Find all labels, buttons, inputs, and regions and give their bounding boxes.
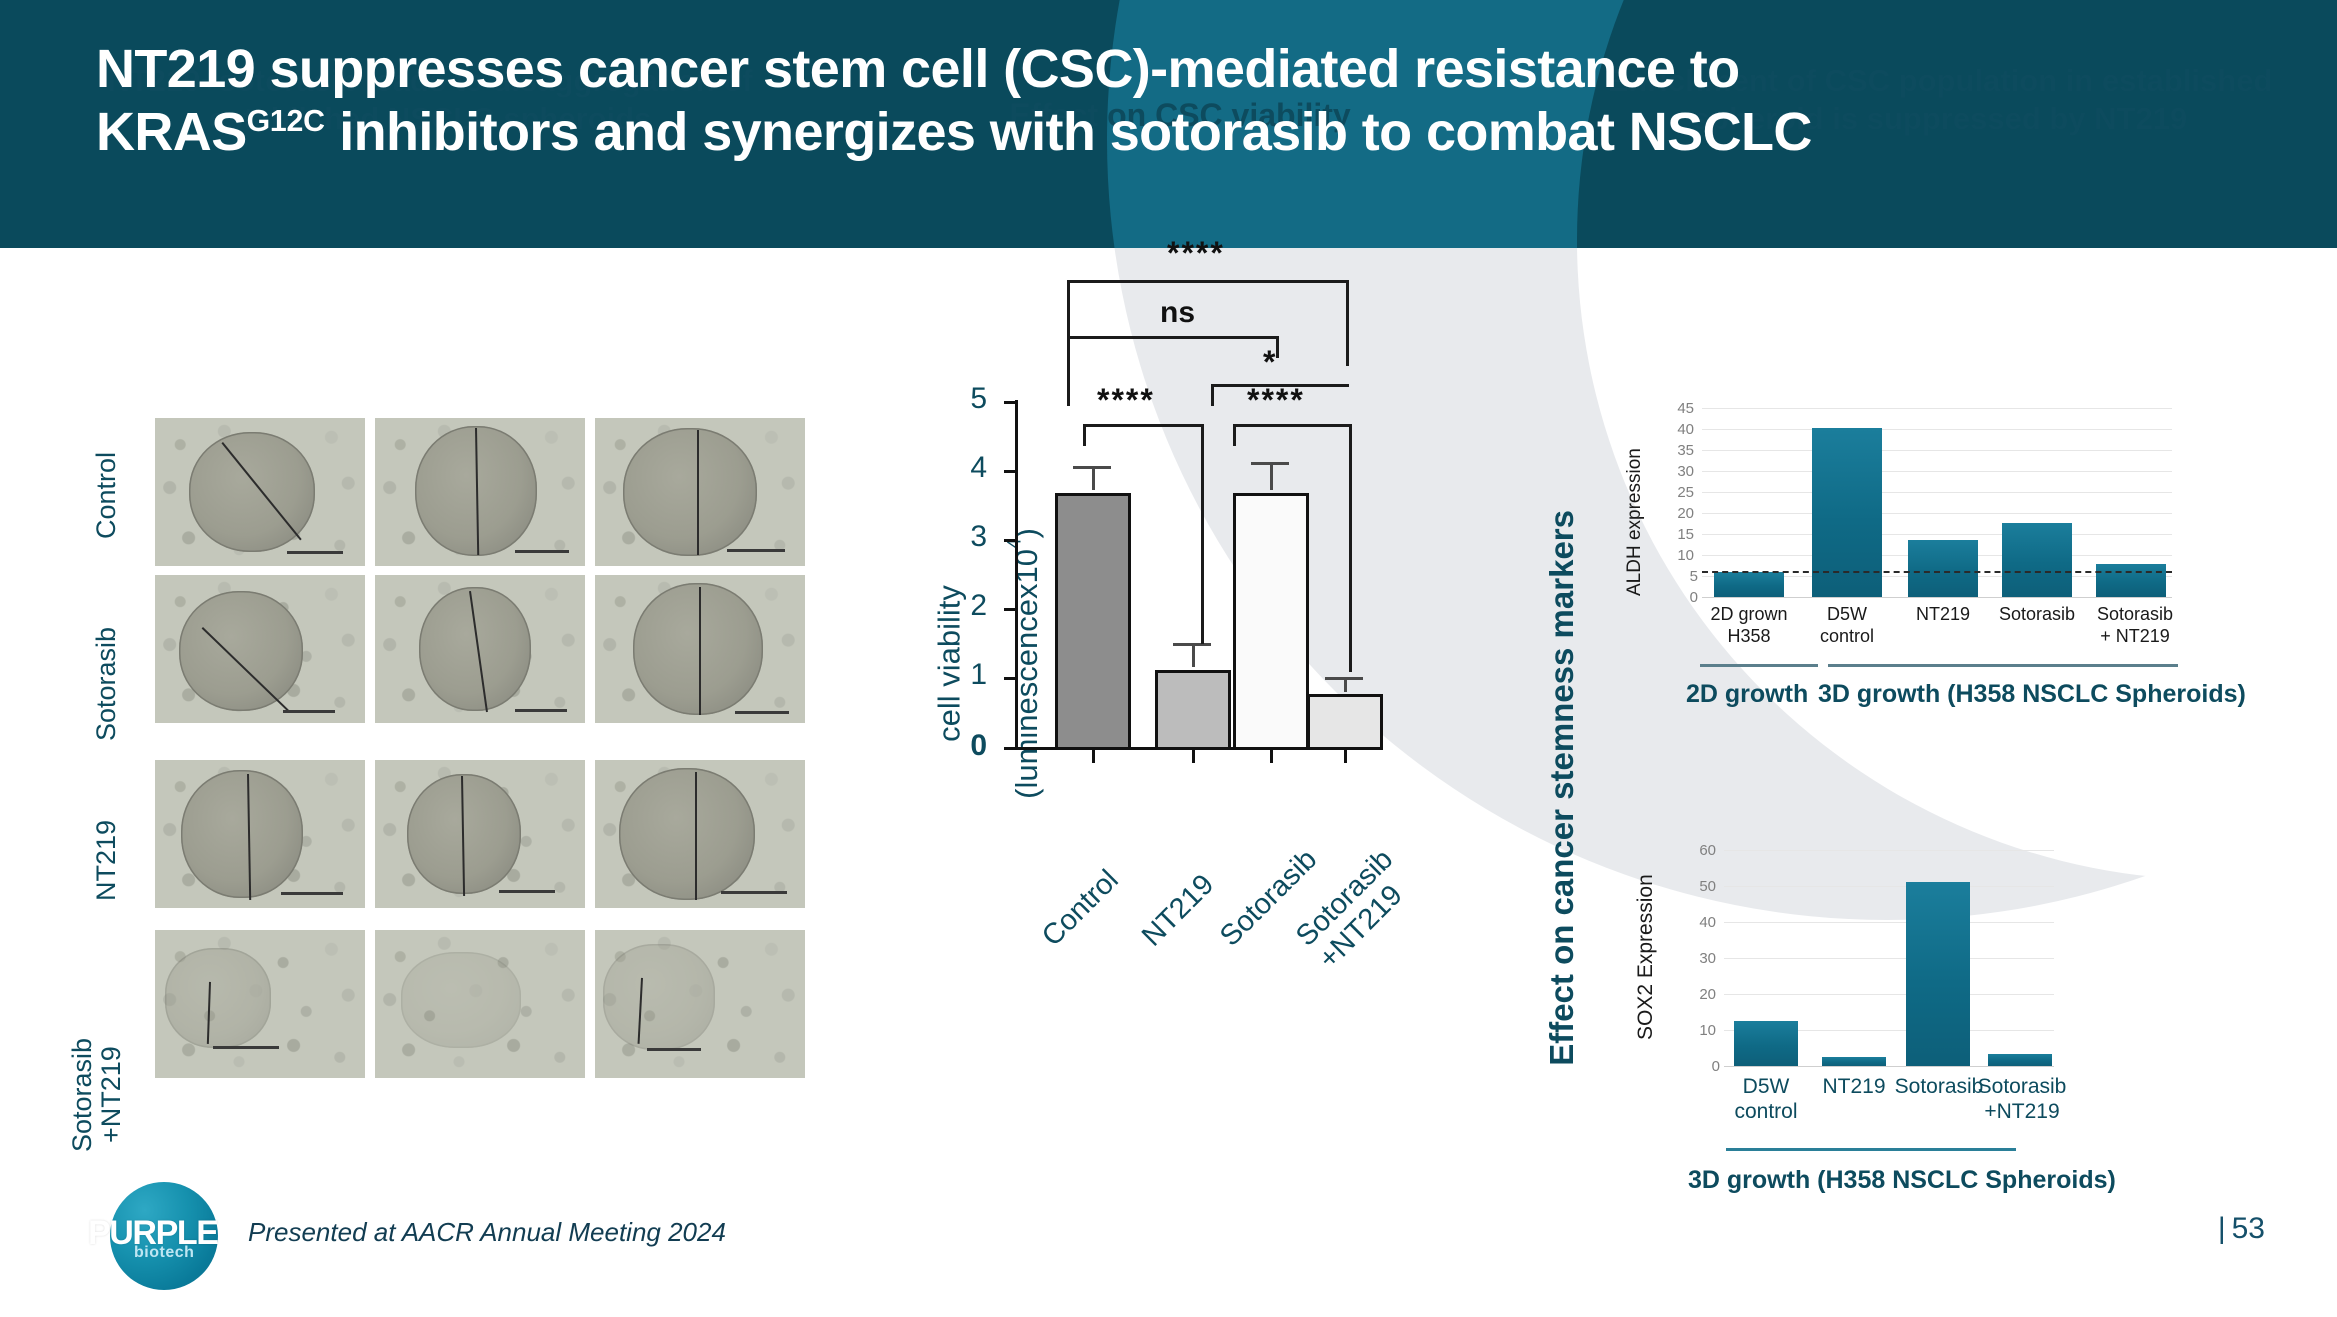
sox2-bar-nt219: [1822, 1057, 1886, 1066]
spheroid-image: [595, 575, 805, 723]
slide-root: NT219 suppresses cancer stem cell (CSC)-…: [0, 0, 2337, 1317]
spheroid-image: [375, 418, 585, 566]
sox2-ytick-40: 40: [1686, 914, 1716, 931]
aldh-group-label-2d: 2D growth: [1686, 680, 1808, 709]
aldh-ytick-30: 30: [1664, 463, 1694, 480]
csc-y-axis: [1015, 400, 1018, 750]
sox2-group-rule: [1726, 1148, 2016, 1151]
page-title: NT219 suppresses cancer stem cell (CSC)-…: [96, 38, 2096, 164]
significance-bracket: [1067, 280, 1349, 283]
sox2-xlabel-sotorasib-nt219: Sotorasib +NT219: [1970, 1074, 2074, 1124]
significance-label-4: ****: [1097, 382, 1155, 419]
sox2-ytick-10: 10: [1686, 1022, 1716, 1039]
csc-bar-control: [1055, 493, 1131, 750]
aldh-ytick-15: 15: [1664, 526, 1694, 543]
aldh-ytick-5: 5: [1668, 568, 1698, 585]
page-title-line1: NT219 suppresses cancer stem cell (CSC)-…: [96, 39, 1740, 99]
row-label-sotorasib-nt219: Sotorasib +NT219: [68, 1000, 134, 1190]
significance-label-3: *: [1263, 344, 1277, 381]
significance-label-1: ****: [1167, 235, 1225, 272]
csc-ytick-5: 5: [947, 382, 987, 416]
csc-viability-chart: 0 1 2 3 4 5 ****: [1015, 400, 1350, 750]
aldh-ytick-45: 45: [1664, 400, 1694, 417]
row-label-nt219: NT219: [92, 790, 121, 930]
aldh-ytick-35: 35: [1664, 442, 1694, 459]
page-number-separator: |: [2218, 1212, 2226, 1245]
spheroid-image: [375, 760, 585, 908]
spheroid-image: [375, 575, 585, 723]
aldh-group-label-3d: 3D growth (H358 NSCLC Spheroids): [1818, 680, 2246, 709]
csc-ytick-1: 1: [947, 658, 987, 692]
logo-subtext: biotech: [134, 1244, 244, 1262]
page-number: |53: [2218, 1212, 2265, 1246]
sox2-bar-d5w-control: [1734, 1021, 1798, 1066]
aldh-ytick-25: 25: [1664, 484, 1694, 501]
aldh-ytick-10: 10: [1664, 547, 1694, 564]
csc-ytick-0: 0: [947, 729, 987, 763]
aldh-group-rule-3d: [1828, 664, 2178, 667]
presented-at-text: Presented at AACR Annual Meeting 2024: [248, 1217, 726, 1248]
sox2-ytick-60: 60: [1686, 842, 1716, 859]
kras-superscript: G12C: [247, 105, 325, 138]
aldh-ytick-0: 0: [1668, 589, 1698, 606]
sox2-xlabel-d5w-control: D5W control: [1716, 1074, 1816, 1124]
sox2-expression-chart: SOX2 Expression 60 50 40 30 20 10 0 D5W …: [1640, 840, 2300, 1070]
aldh-ytick-20: 20: [1664, 505, 1694, 522]
aldh-y-axis-label: ALDH expression: [1624, 416, 1646, 596]
significance-label-5: ****: [1247, 382, 1305, 419]
spheroid-image: [595, 418, 805, 566]
spheroid-image: [155, 418, 365, 566]
aldh-bar-nt219: [1908, 540, 1978, 597]
page-title-line2: KRASG12C inhibitors and synergizes with …: [96, 101, 2096, 164]
spheroid-image: [375, 930, 585, 1078]
spheroid-image: [155, 760, 365, 908]
sox2-ytick-0: 0: [1690, 1058, 1720, 1075]
sox2-ytick-20: 20: [1686, 986, 1716, 1003]
row-label-sotorasib: Sotorasib: [92, 600, 121, 768]
sox2-ytick-50: 50: [1686, 878, 1716, 895]
csc-bar-nt219: [1155, 670, 1231, 750]
csc-ytick-2: 2: [947, 589, 987, 623]
purple-biotech-logo: PURPLE biotech: [88, 1180, 238, 1292]
spheroid-image: [155, 575, 365, 723]
aldh-xlabel-sotorasib-nt219: Sotorasib + NT219: [2080, 604, 2190, 647]
aldh-reference-line: [1702, 571, 2172, 573]
aldh-bar-sotorasib-nt219: [2096, 564, 2166, 597]
csc-ytick-4: 4: [947, 451, 987, 485]
page-number-value: 53: [2232, 1212, 2265, 1245]
spheroid-image: [155, 930, 365, 1078]
aldh-xlabel-2d-grown-h358: 2D grown H358: [1696, 604, 1802, 647]
aldh-xlabel-nt219: NT219: [1892, 604, 1994, 626]
aldh-expression-chart: ALDH expression 45 40 35 30 25 20 15 10 …: [1640, 408, 2300, 638]
significance-label-2: ns: [1160, 296, 1195, 330]
csc-ytick-3: 3: [947, 520, 987, 554]
sox2-y-axis-label: SOX2 Expression: [1634, 850, 1658, 1040]
aldh-xlabel-sotorasib: Sotorasib: [1982, 604, 2092, 626]
aldh-bar-sotorasib: [2002, 523, 2072, 597]
csc-bar-sotorasib: [1233, 493, 1309, 750]
csc-bar-sotorasib-nt219: [1307, 694, 1383, 750]
sox2-group-label: 3D growth (H358 NSCLC Spheroids): [1688, 1166, 2116, 1195]
row-label-control: Control: [92, 420, 121, 570]
page-title-line2-rest: inhibitors and synergizes with sotorasib…: [325, 102, 1812, 162]
sox2-bar-sotorasib-nt219: [1988, 1054, 2052, 1066]
aldh-ytick-40: 40: [1664, 421, 1694, 438]
right-panel-vertical-label: Effect on cancer stemness markers: [1543, 510, 1581, 1066]
aldh-group-rule-2d: [1700, 664, 1818, 667]
spheroid-image: [595, 760, 805, 908]
aldh-bar-2d-grown-h358: [1714, 572, 1784, 597]
kras-text: KRAS: [96, 102, 247, 162]
aldh-xlabel-d5w-control: D5W control: [1796, 604, 1898, 647]
sox2-bar-sotorasib: [1906, 882, 1970, 1066]
spheroid-image: [595, 930, 805, 1078]
sox2-ytick-30: 30: [1686, 950, 1716, 967]
